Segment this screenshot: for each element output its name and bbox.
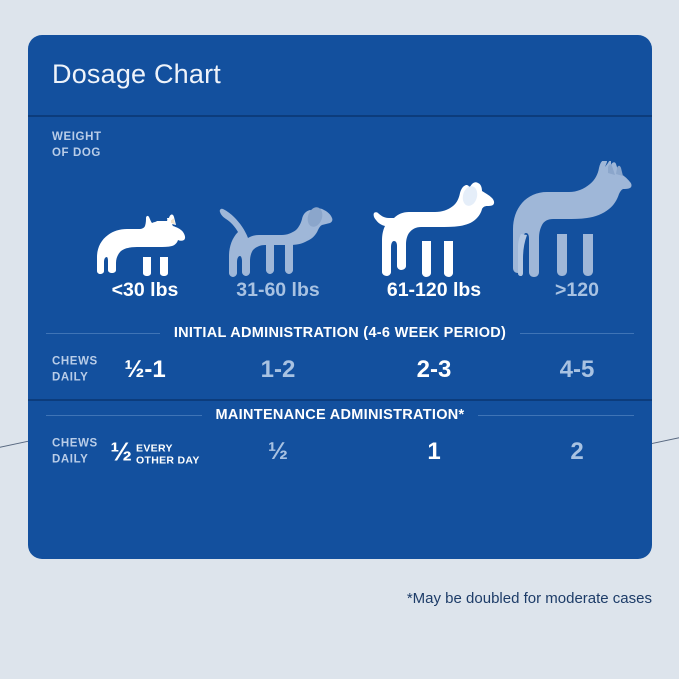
- dog-cell-1: [97, 213, 193, 279]
- dose-maintenance-3: 1: [427, 438, 440, 466]
- row-label-initial-line1: CHEWS: [52, 355, 98, 371]
- page-title: Dosage Chart: [28, 35, 652, 88]
- dosage-chart-card: Dosage Chart WEIGHT OF DOG: [28, 35, 652, 559]
- row-label-initial: CHEWS DAILY: [52, 355, 98, 386]
- dose-initial-2: 1-2: [261, 356, 296, 384]
- dose-maintenance-1-note-line2: OTHER DAY: [136, 454, 200, 466]
- corgi-silhouette: [97, 213, 193, 279]
- weight-label-1: <30 lbs: [112, 279, 179, 302]
- footnote: *May be doubled for moderate cases: [407, 590, 652, 607]
- row-divider: [28, 399, 652, 401]
- dosage-row-maintenance: CHEWS DAILY ½EVERYOTHER DAY ½ 1 2: [28, 423, 652, 481]
- row-label-maintenance-line1: CHEWS: [52, 437, 98, 453]
- dose-initial-1: ½-1: [124, 356, 165, 384]
- dose-initial-3: 2-3: [417, 356, 452, 384]
- dose-maintenance-4: 2: [570, 438, 583, 466]
- labrador-silhouette: [219, 187, 337, 279]
- weight-label-4: >120: [555, 279, 599, 302]
- section-rule-left: [46, 333, 160, 334]
- weight-label-3: 61-120 lbs: [387, 279, 481, 302]
- dose-maintenance-1-value: ½: [110, 437, 132, 467]
- section-rule-left-2: [46, 415, 202, 416]
- section-header-maintenance: MAINTENANCE ADMINISTRATION*: [28, 407, 652, 423]
- great-dane-silhouette: [507, 161, 647, 279]
- weight-of-dog-header-line1: WEIGHT: [52, 130, 652, 146]
- row-label-maintenance-line2: DAILY: [52, 452, 98, 468]
- dose-initial-4: 4-5: [560, 356, 595, 384]
- dog-cell-3: [370, 175, 498, 279]
- rottweiler-silhouette: [370, 175, 498, 279]
- section-rule-right: [520, 333, 634, 334]
- weight-label-row: <30 lbs 31-60 lbs 61-120 lbs >120: [28, 279, 652, 319]
- section-title-initial: INITIAL ADMINISTRATION (4-6 WEEK PERIOD): [174, 325, 506, 341]
- dog-cell-2: [219, 187, 337, 279]
- section-header-initial: INITIAL ADMINISTRATION (4-6 WEEK PERIOD): [28, 325, 652, 341]
- row-label-initial-line2: DAILY: [52, 370, 98, 386]
- section-title-maintenance: MAINTENANCE ADMINISTRATION*: [216, 407, 465, 423]
- dose-maintenance-1: ½EVERYOTHER DAY: [110, 437, 199, 468]
- dose-maintenance-2: ½: [268, 438, 288, 466]
- weight-of-dog-header-line2: OF DOG: [52, 146, 652, 162]
- weight-label-2: 31-60 lbs: [236, 279, 319, 302]
- dog-silhouette-row: [28, 161, 652, 279]
- section-rule-right-2: [478, 415, 634, 416]
- dog-cell-4: [507, 161, 647, 279]
- dose-maintenance-1-note-line1: EVERY: [136, 442, 173, 454]
- row-label-maintenance: CHEWS DAILY: [52, 437, 98, 468]
- dose-maintenance-1-note: EVERYOTHER DAY: [136, 442, 200, 466]
- dosage-row-initial: CHEWS DAILY ½-1 1-2 2-3 4-5: [28, 341, 652, 399]
- weight-of-dog-header: WEIGHT OF DOG: [28, 117, 652, 161]
